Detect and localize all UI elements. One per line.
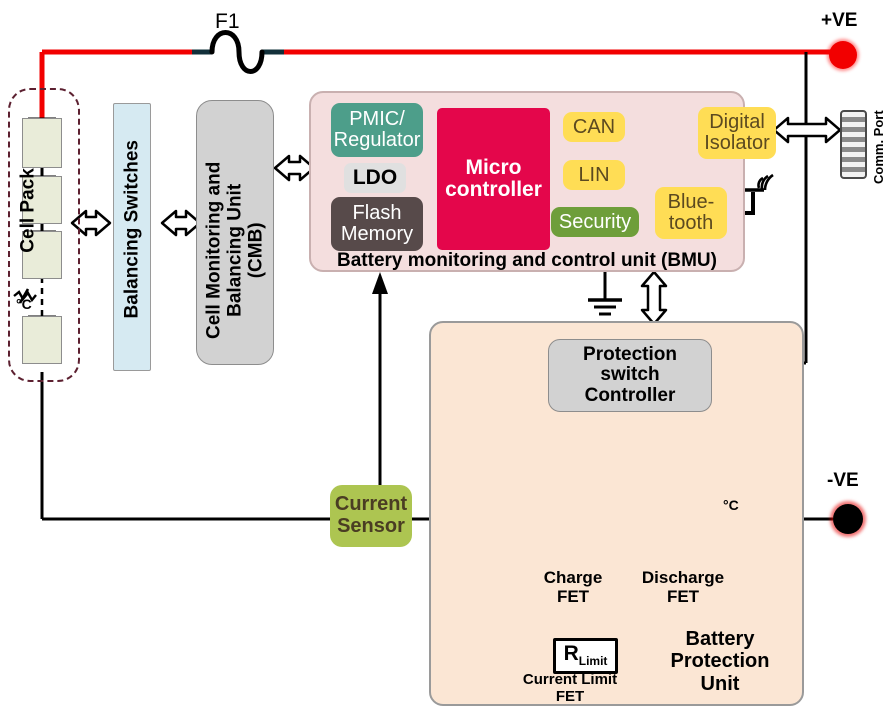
fuse-symbol bbox=[212, 33, 262, 72]
cmb-label-line3: (CMB) bbox=[245, 222, 266, 278]
chip-micro-line1: Micro bbox=[465, 156, 521, 179]
chip-lin[interactable]: LIN bbox=[563, 160, 625, 190]
chip-can[interactable]: CAN bbox=[563, 112, 625, 142]
bmu-caption: Battery monitoring and control unit (BMU… bbox=[309, 250, 745, 271]
bpu-caption: Battery Protection Unit bbox=[650, 628, 790, 695]
cell-4 bbox=[22, 316, 62, 364]
charge-fet-line2: FET bbox=[557, 587, 589, 606]
negative-terminal-label: -VE bbox=[827, 470, 859, 492]
chip-microcontroller[interactable]: Micro controller bbox=[437, 108, 550, 250]
cell-pack-thermistor-label: °C bbox=[16, 296, 32, 312]
psc-line3: Controller bbox=[585, 385, 676, 406]
balancing-switches-block[interactable]: Balancing Switches bbox=[113, 103, 151, 371]
chip-digital-isolator[interactable]: Digital Isolator bbox=[698, 107, 776, 159]
cmb-label-line1: Cell Monitoring and bbox=[204, 162, 225, 339]
chip-flash-line2: Memory bbox=[341, 223, 413, 245]
positive-terminal-label: +VE bbox=[821, 10, 857, 32]
r-limit-sub: Limit bbox=[579, 655, 608, 669]
arrow-balsw-cmb bbox=[162, 211, 200, 235]
current-sensor-block[interactable]: Current Sensor bbox=[330, 485, 412, 547]
antenna-wave-3 bbox=[765, 175, 773, 190]
bpu-caption-line2: Protection bbox=[671, 650, 770, 672]
charge-fet-label: Charge FET bbox=[518, 568, 628, 606]
chip-pmic-line1: PMIC/ bbox=[349, 108, 405, 130]
chip-flash-line1: Flash bbox=[353, 202, 402, 224]
protection-switch-controller[interactable]: Protection switch Controller bbox=[548, 339, 712, 412]
current-limit-fet-label: Current Limit FET bbox=[495, 672, 645, 706]
charge-fet-line1: Charge bbox=[544, 568, 603, 587]
cmb-label: Cell Monitoring and Balancing Unit (CMB) bbox=[205, 150, 268, 350]
discharge-fet-line1: Discharge bbox=[642, 568, 724, 587]
comm-port-label: Comm. Port bbox=[872, 97, 886, 197]
chip-bluetooth[interactable]: Blue- tooth bbox=[655, 187, 727, 239]
comm-port[interactable] bbox=[840, 110, 867, 179]
antenna-wave-1 bbox=[758, 178, 763, 188]
cell-pack-label: Cell Pack bbox=[19, 160, 40, 260]
chip-iso-line2: Isolator bbox=[704, 132, 770, 154]
balancing-switches-label: Balancing Switches bbox=[123, 146, 144, 318]
psc-line2: switch bbox=[600, 364, 659, 385]
fuse-label: F1 bbox=[215, 10, 240, 34]
bpu-caption-line3: Unit bbox=[701, 673, 740, 695]
discharge-fet-line2: FET bbox=[667, 587, 699, 606]
psc-line1: Protection bbox=[583, 344, 677, 365]
chip-flash-memory[interactable]: Flash Memory bbox=[331, 197, 423, 251]
chip-security[interactable]: Security bbox=[551, 207, 639, 237]
current-sensor-line1: Current bbox=[335, 493, 407, 515]
chip-ldo[interactable]: LDO bbox=[344, 163, 406, 193]
chip-iso-line1: Digital bbox=[709, 111, 765, 133]
chip-pmic-regulator[interactable]: PMIC/ Regulator bbox=[331, 103, 423, 157]
arrow-sensor-to-bmu bbox=[372, 272, 388, 294]
chip-pmic-line2: Regulator bbox=[334, 129, 421, 151]
positive-terminal[interactable] bbox=[829, 41, 857, 69]
chip-micro-line2: controller bbox=[445, 178, 542, 201]
arrow-bmu-bpu bbox=[642, 272, 666, 324]
current-sensor-line2: Sensor bbox=[337, 515, 405, 537]
negative-terminal[interactable] bbox=[833, 504, 863, 534]
discharge-fet-label: Discharge FET bbox=[628, 568, 738, 606]
cmb-label-line2: Balancing Unit bbox=[225, 184, 246, 317]
chip-bt-line2: tooth bbox=[669, 212, 713, 234]
antenna-wave-2 bbox=[762, 176, 768, 189]
chip-bt-line1: Blue- bbox=[668, 191, 715, 213]
r-limit-main: R bbox=[564, 642, 579, 665]
r-limit-resistor[interactable]: RLimit bbox=[553, 638, 618, 674]
current-limit-fet-line2: FET bbox=[556, 688, 584, 705]
bpu-thermistor-label: °C bbox=[723, 497, 739, 513]
bms-block-diagram: Cell Pack °C Balancing Switches Cell Mon… bbox=[0, 0, 893, 710]
cmb-block[interactable]: Cell Monitoring and Balancing Unit (CMB) bbox=[196, 100, 274, 365]
bpu-caption-line1: Battery bbox=[686, 628, 755, 650]
arrow-isolator-commport bbox=[774, 118, 840, 142]
